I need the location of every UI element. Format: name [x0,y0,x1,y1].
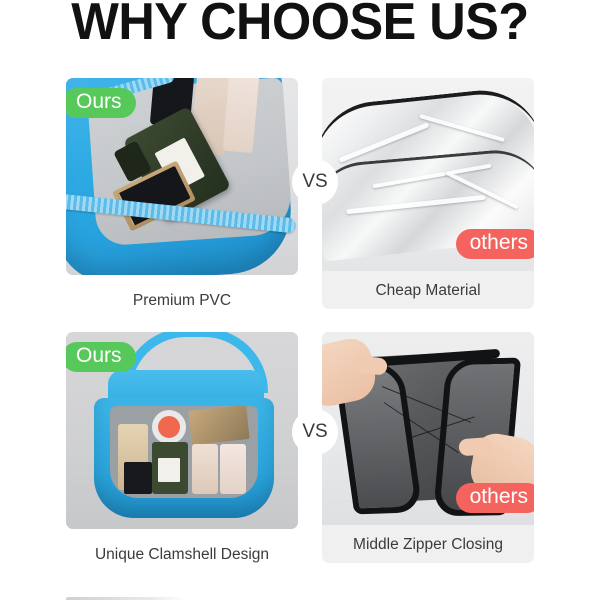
ours-product-photo: Ours [66,332,298,529]
others-product-photo: others [322,332,534,525]
ours-caption: Premium PVC [66,293,298,309]
comparison-row: Ours Premium PVC VS [66,78,534,300]
others-badge: others [456,483,534,513]
page-title: WHY CHOOSE US? [9,0,591,53]
others-caption: Middle Zipper Closing [322,525,534,563]
comparison-grid: Ours Premium PVC VS [66,78,534,558]
others-card: others Middle Zipper Closing [322,332,534,563]
others-badge: others [456,229,534,259]
others-card: others Cheap Material [322,78,534,309]
others-panel[interactable]: others Middle Zipper Closing [322,332,534,563]
ours-badge: Ours [66,342,136,372]
vs-divider: VS [292,409,338,455]
ours-panel[interactable]: Ours Unique Clamshell Design [66,332,298,563]
ours-panel[interactable]: Ours Premium PVC [66,78,298,309]
others-panel[interactable]: others Cheap Material [322,78,534,309]
ours-product-photo: Ours [66,78,298,275]
comparison-row: Ours Unique Clamshell Design VS [66,332,534,558]
ours-badge: Ours [66,88,136,118]
ours-caption: Unique Clamshell Design [66,547,298,563]
vs-divider: VS [292,159,338,205]
others-caption: Cheap Material [322,271,534,309]
others-product-photo: others [322,78,534,271]
